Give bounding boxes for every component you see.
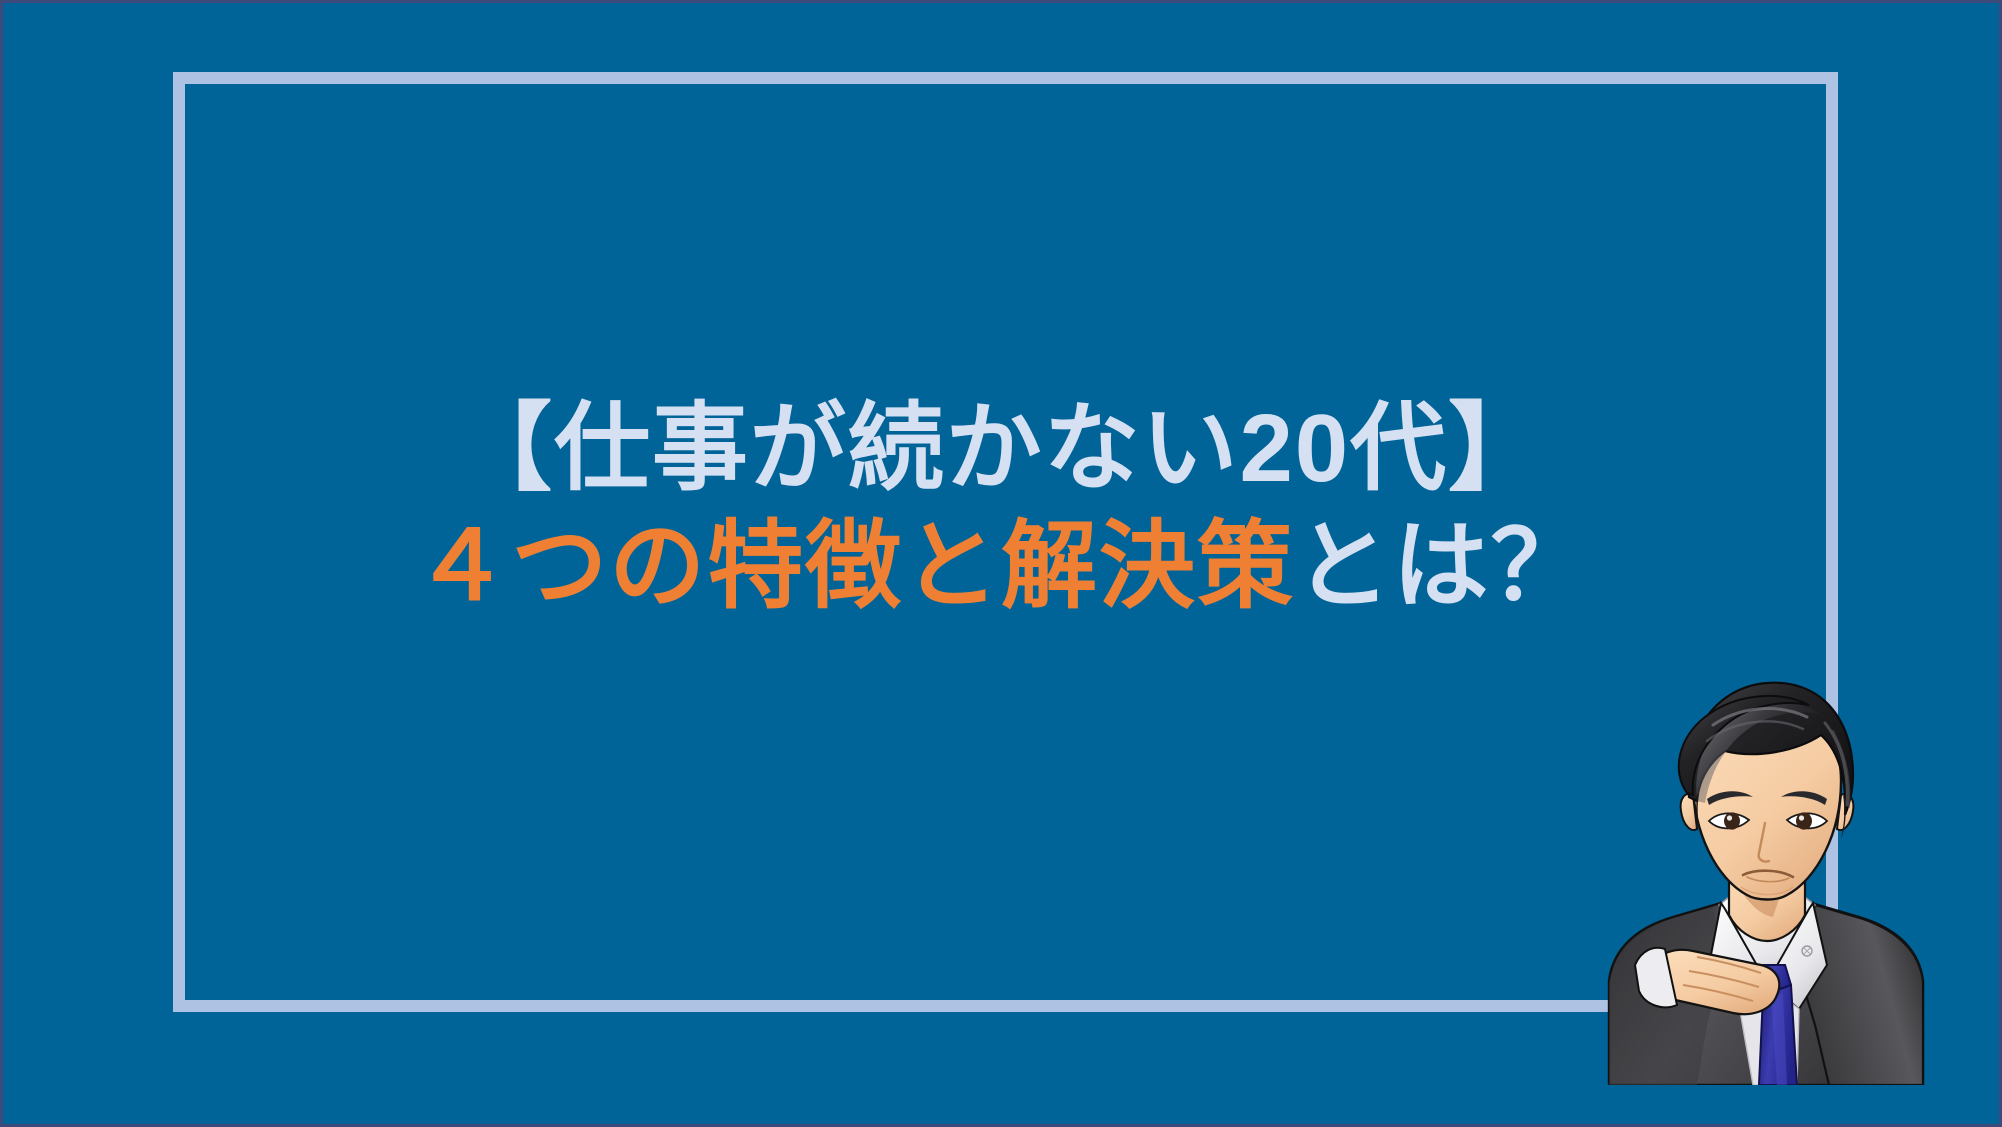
title-suffix-segment: とは？: [1295, 513, 1589, 620]
title-line-1: 【仕事が続かない20代】: [3, 401, 1999, 497]
businessman-svg: [1601, 665, 1931, 1085]
title-block: 【仕事が続かない20代】 ４つの特徴と解決策とは？: [3, 401, 1999, 615]
title-line-2: ４つの特徴と解決策とは？: [3, 519, 1999, 615]
businessman-illustration: [1601, 665, 1931, 1085]
title-accent-segment: ４つの特徴と解決策: [413, 513, 1294, 620]
thumbnail-canvas: 【仕事が続かない20代】 ４つの特徴と解決策とは？: [0, 0, 2002, 1127]
